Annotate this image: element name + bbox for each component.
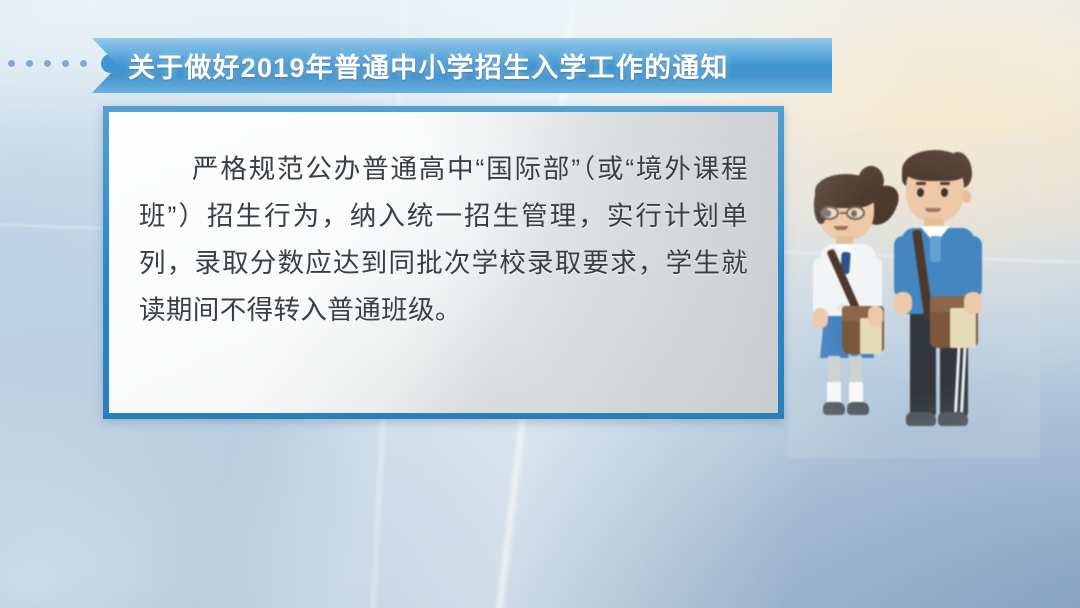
- dot-icon: [62, 60, 69, 67]
- girl-sock-left: [827, 382, 841, 404]
- boy-hand-right: [964, 292, 982, 314]
- girl-shoe-right: [847, 402, 869, 415]
- dot-icon: [80, 60, 87, 67]
- boy-hair-fringe: [904, 155, 966, 181]
- boy-book: [950, 308, 976, 348]
- boy-hand-left: [894, 292, 912, 314]
- boy-eye-right: [941, 188, 948, 197]
- boy-brow-right: [940, 182, 950, 185]
- glasses-icon: [819, 206, 869, 220]
- decorative-dots: [8, 54, 120, 73]
- girl-arm-right: [868, 258, 882, 312]
- title-banner: 关于做好2019年普通中小学招生入学工作的通知: [0, 38, 1080, 94]
- boy-student-figure: [892, 150, 1002, 438]
- video-frame: 关于做好2019年普通中小学招生入学工作的通知 严格规范公办普通高中“国际部”（…: [0, 0, 1080, 608]
- students-illustration: [806, 150, 1022, 440]
- boy-brow-left: [916, 182, 926, 185]
- girl-mouth: [834, 226, 848, 230]
- content-panel: 严格规范公办普通高中“国际部”（或“境外课程班”）招生行为，纳入统一招生管理，实…: [103, 106, 784, 419]
- content-panel-inner: 严格规范公办普通高中“国际部”（或“境外课程班”）招生行为，纳入统一招生管理，实…: [109, 112, 778, 413]
- boy-arm-right: [964, 236, 982, 298]
- girl-shoe-left: [823, 402, 845, 415]
- boy-eye-left: [917, 188, 924, 197]
- boy-shoe-left: [906, 412, 936, 426]
- girl-sock-right: [849, 382, 863, 404]
- boy-ear: [962, 190, 971, 203]
- girl-student-figure: [808, 166, 900, 432]
- dot-icon: [26, 60, 33, 67]
- boy-necktie: [930, 236, 941, 262]
- boy-arm-left: [894, 236, 912, 298]
- policy-body-text: 严格规范公办普通高中“国际部”（或“境外课程班”）招生行为，纳入统一招生管理，实…: [109, 112, 778, 334]
- boy-shoe-right: [938, 412, 968, 426]
- boy-mouth: [925, 208, 941, 212]
- girl-hand-right: [868, 306, 883, 326]
- dot-icon: [44, 60, 51, 67]
- page-title: 关于做好2019年普通中小学招生入学工作的通知: [128, 38, 729, 93]
- dot-icon: [8, 60, 15, 67]
- girl-hand-left: [813, 308, 828, 328]
